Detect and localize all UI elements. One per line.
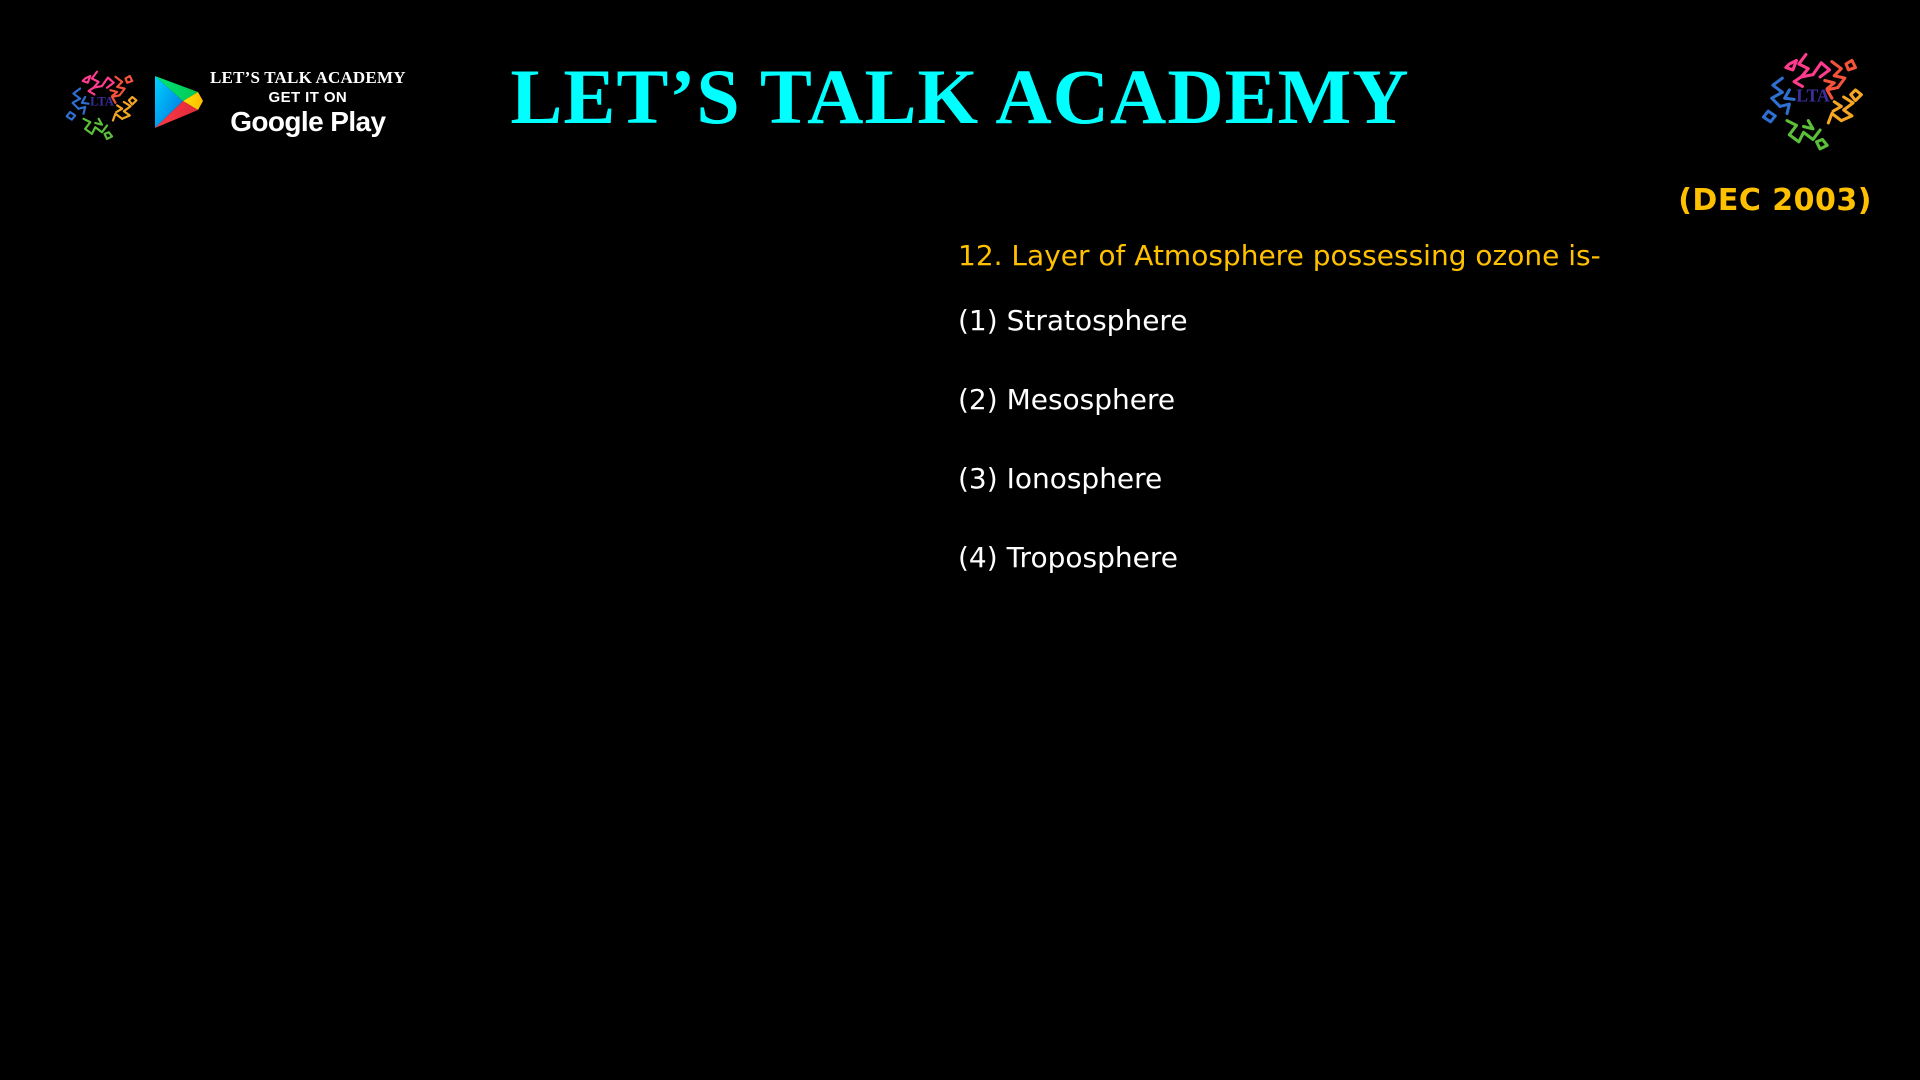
page-title: LET’S TALK ACADEMY (0, 56, 1920, 138)
option-4[interactable]: (4) Troposphere (958, 540, 1858, 575)
option-3[interactable]: (3) Ionosphere (958, 461, 1858, 496)
option-1[interactable]: (1) Stratosphere (958, 303, 1858, 338)
lta-logo-right: LTA (1754, 38, 1872, 156)
exam-session-tag: (DEC 2003) (1678, 183, 1872, 218)
lta-logo-center-text: LTA (1796, 86, 1830, 106)
question-text: 12. Layer of Atmosphere possessing ozone… (958, 238, 1858, 273)
option-2[interactable]: (2) Mesosphere (958, 382, 1858, 417)
question-block: 12. Layer of Atmosphere possessing ozone… (958, 238, 1858, 575)
